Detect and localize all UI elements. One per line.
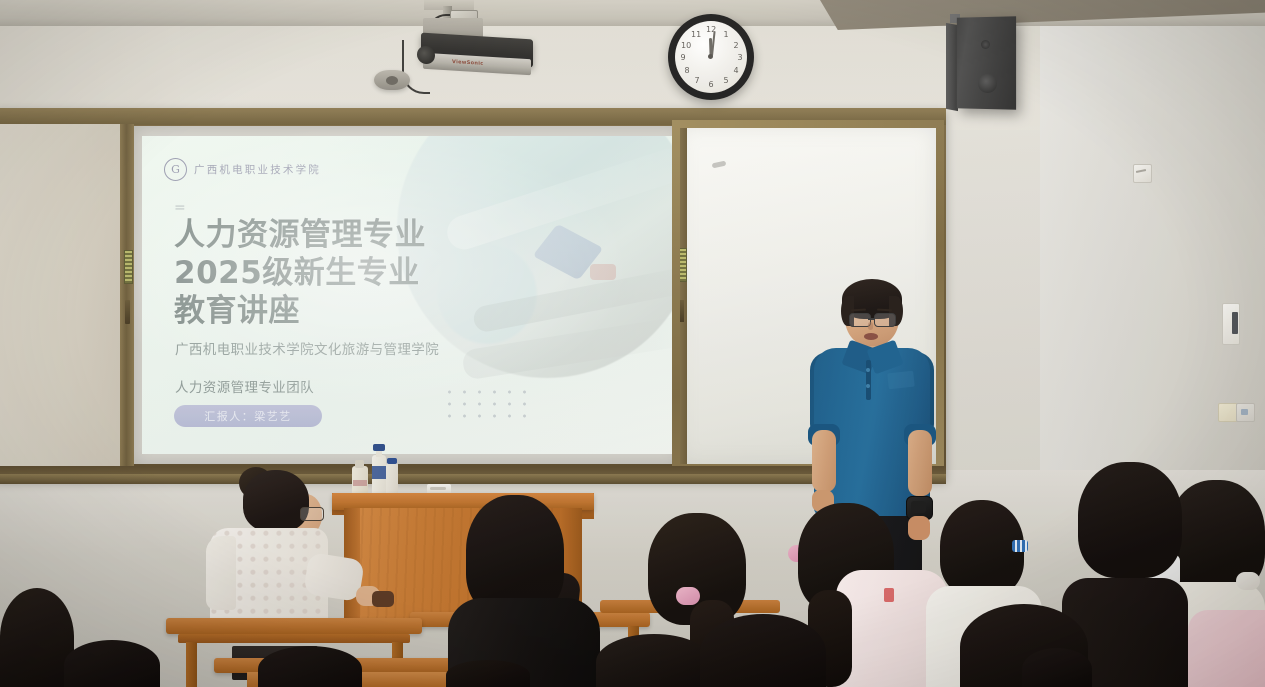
bench-row-front-left bbox=[166, 618, 422, 634]
clock-numeral: 7 bbox=[692, 76, 702, 85]
bench-leg bbox=[186, 642, 197, 687]
front-row-head bbox=[700, 614, 826, 687]
institution-name: 广西机电职业技术学院 bbox=[194, 162, 321, 177]
clock-numeral: 8 bbox=[682, 66, 692, 75]
presenter-mouth bbox=[864, 333, 878, 340]
slide-logo: G 广西机电职业技术学院 bbox=[164, 158, 321, 181]
speaker-driver-icon bbox=[978, 74, 997, 93]
hinge-icon bbox=[124, 250, 133, 284]
latch-icon-right[interactable] bbox=[679, 300, 684, 322]
clock-numeral: 2 bbox=[731, 41, 741, 50]
front-row-head bbox=[1022, 648, 1092, 687]
slide-subtitle-team: 人力资源管理专业团队 bbox=[175, 376, 314, 396]
presenter-nose bbox=[868, 322, 873, 330]
spray-bottle-label bbox=[372, 466, 386, 479]
pink-scrunchie-icon bbox=[676, 587, 700, 605]
hair-clip-icon bbox=[1012, 540, 1028, 552]
whiteboard-track-right bbox=[676, 124, 687, 468]
sliding-whiteboard-left[interactable] bbox=[0, 124, 134, 468]
clock-numeral: 4 bbox=[731, 66, 741, 75]
speaker-tweeter-icon bbox=[981, 40, 990, 49]
front-row-head bbox=[64, 640, 160, 687]
student-face-mask-hair bbox=[1078, 462, 1182, 578]
seated-woman-hair bbox=[243, 470, 309, 532]
clock-numeral: 6 bbox=[706, 80, 716, 89]
handheld-object bbox=[372, 591, 394, 607]
light-switch-rocker[interactable] bbox=[1232, 312, 1238, 334]
student-pink-sleeve bbox=[1188, 610, 1265, 687]
bench-shelf-front-left bbox=[178, 634, 410, 643]
student-black-top-hair bbox=[466, 495, 564, 615]
clock-numeral: 5 bbox=[721, 76, 731, 85]
presenter-button-top bbox=[866, 368, 870, 372]
eyeglasses-bridge bbox=[868, 318, 875, 320]
tissue-box-slot bbox=[430, 487, 446, 490]
latch-icon[interactable] bbox=[125, 300, 130, 324]
front-row-head bbox=[0, 588, 74, 687]
slide-subtitle-department: 广西机电职业技术学院文化旅游与管理学院 bbox=[175, 338, 439, 358]
classroom-scene: G 广西机电职业技术学院 = 人力资源管理专业 2025级新生专业 教育讲座 广… bbox=[0, 0, 1265, 687]
spray-bottle-nozzle bbox=[373, 444, 385, 451]
clock-numeral: 10 bbox=[681, 41, 691, 50]
clock-numeral: 1 bbox=[721, 30, 731, 39]
slide-title: 人力资源管理专业 2025级新生专业 教育讲座 bbox=[174, 216, 494, 330]
clock-numeral: 9 bbox=[678, 53, 688, 62]
presenter-arm-right bbox=[908, 430, 932, 496]
clock-numeral: 11 bbox=[691, 30, 701, 39]
student-badge bbox=[884, 588, 894, 602]
board-chalk-ledge bbox=[0, 474, 946, 484]
slide-eyebrow-mark: = bbox=[174, 200, 187, 216]
smartwatch-face bbox=[911, 501, 926, 513]
wall-speaker bbox=[957, 16, 1016, 109]
slide-dot-grid bbox=[442, 386, 528, 420]
white-scrunchie-icon bbox=[1236, 572, 1260, 590]
sanitizer-bottle-cap bbox=[355, 460, 364, 468]
presenter-placket bbox=[866, 360, 871, 400]
university-crest-icon: G bbox=[164, 158, 187, 181]
presenter-button-bottom bbox=[866, 384, 870, 388]
hinge-icon-right bbox=[678, 248, 687, 282]
whiteboard-track-left bbox=[120, 124, 134, 468]
projection-screen: G 广西机电职业技术学院 = 人力资源管理专业 2025级新生专业 教育讲座 广… bbox=[134, 126, 680, 464]
slide-presenter-badge: 汇报人：梁艺艺 bbox=[174, 405, 322, 427]
seated-woman-shoulder bbox=[206, 536, 236, 610]
presenter-hand-right bbox=[908, 516, 930, 540]
front-row-head bbox=[596, 634, 712, 687]
presenter-arm-left bbox=[812, 430, 836, 492]
eyeglasses-icon-right bbox=[874, 313, 896, 327]
front-row-head bbox=[258, 646, 362, 687]
water-bottle-cap bbox=[387, 458, 397, 464]
power-socket-slot bbox=[1241, 409, 1248, 415]
board-frame-top-rail bbox=[0, 108, 946, 125]
eyeglasses-icon-seated-woman bbox=[300, 507, 324, 521]
presentation-slide: G 广西机电职业技术学院 = 人力资源管理专业 2025级新生专业 教育讲座 广… bbox=[142, 136, 672, 454]
clock-center-pin bbox=[708, 54, 713, 59]
water-bottle bbox=[386, 463, 398, 496]
presenter-chest-pocket bbox=[887, 371, 915, 390]
smoke-detector-center bbox=[386, 76, 398, 85]
front-row-head bbox=[446, 660, 530, 687]
sanitizer-bottle-label bbox=[353, 480, 367, 486]
wall-outlet[interactable] bbox=[1133, 164, 1152, 183]
power-socket-left[interactable] bbox=[1218, 403, 1238, 422]
clock-numeral: 3 bbox=[735, 53, 745, 62]
